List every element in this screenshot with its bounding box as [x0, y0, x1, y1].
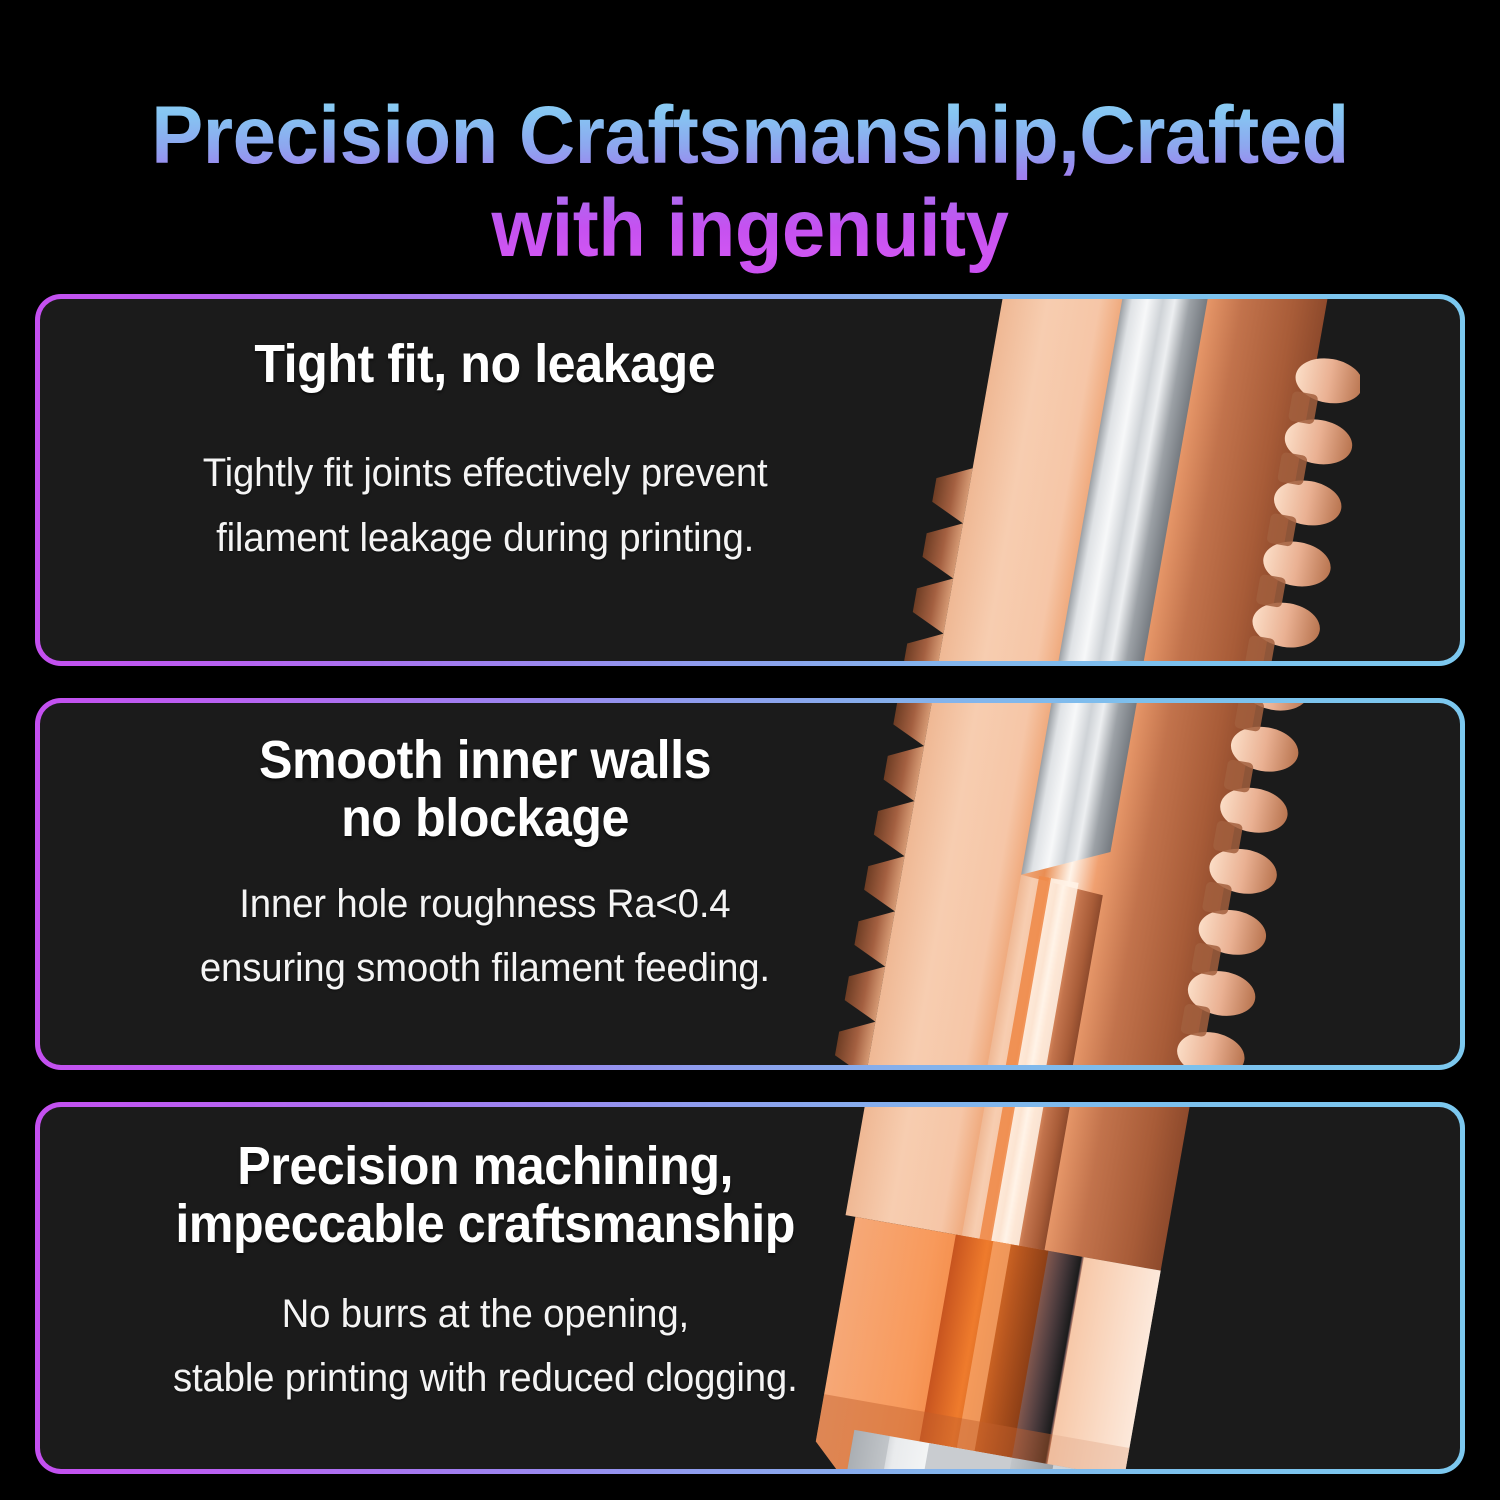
- feature-body: Tightly fit joints effectively prevent f…: [203, 441, 768, 571]
- feature-heading: Precision machining, impeccable craftsma…: [175, 1137, 795, 1254]
- feature-card-text: Precision machining, impeccable craftsma…: [40, 1107, 930, 1469]
- feature-card-tight-fit: Tight fit, no leakage Tightly fit joints…: [35, 294, 1465, 666]
- feature-card-text: Smooth inner walls no blockage Inner hol…: [40, 703, 930, 1065]
- feature-card-text: Tight fit, no leakage Tightly fit joints…: [40, 299, 930, 661]
- feature-body: No burrs at the opening, stable printing…: [173, 1282, 798, 1412]
- feature-card-surface: Tight fit, no leakage Tightly fit joints…: [40, 299, 1460, 661]
- page-title: Precision Craftsmanship,Crafted with ing…: [38, 89, 1463, 276]
- feature-card-precision-machining: Precision machining, impeccable craftsma…: [35, 1102, 1465, 1474]
- feature-card-list: Tight fit, no leakage Tightly fit joints…: [35, 294, 1465, 1474]
- feature-heading: Tight fit, no leakage: [255, 335, 716, 393]
- feature-card-surface: Smooth inner walls no blockage Inner hol…: [40, 703, 1460, 1065]
- feature-card-surface: Precision machining, impeccable craftsma…: [40, 1107, 1460, 1469]
- feature-card-smooth-walls: Smooth inner walls no blockage Inner hol…: [35, 698, 1465, 1070]
- feature-body: Inner hole roughness Ra<0.4 ensuring smo…: [200, 872, 770, 1002]
- feature-heading: Smooth inner walls no blockage: [259, 731, 711, 848]
